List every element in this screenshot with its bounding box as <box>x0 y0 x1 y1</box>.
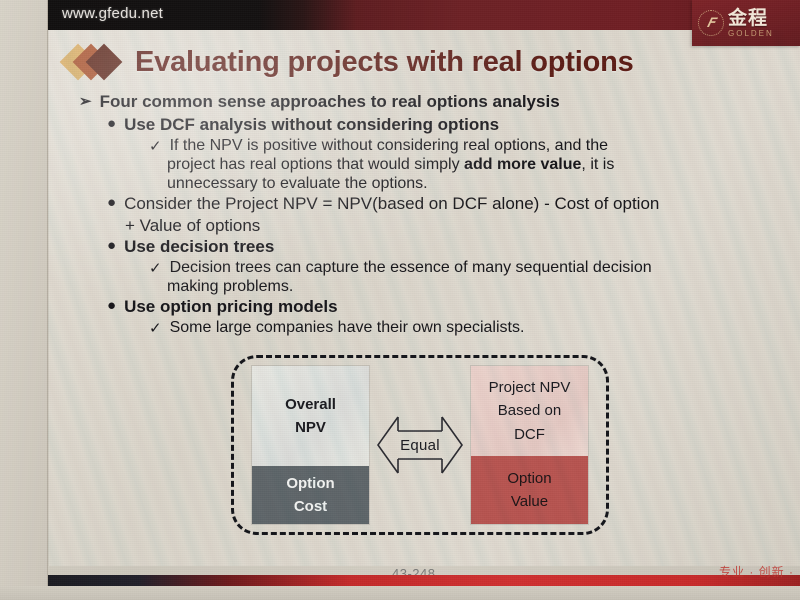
overall-npv-label-line2: NPV <box>295 416 326 439</box>
outline-item-text: Use DCF analysis without considering opt… <box>124 115 499 135</box>
option-cost-segment: Option Cost <box>252 466 369 524</box>
project-npv-label-line1: Project NPV <box>489 376 571 399</box>
overall-npv-segment: Overall NPV <box>252 366 369 466</box>
option-cost-label-line1: Option <box>286 472 334 495</box>
circular-seal-icon: 𝑭 <box>698 10 724 36</box>
footer-accent-bar <box>48 575 800 586</box>
dot-bullet-icon: ● <box>107 194 116 213</box>
outline-item: ➢Four common sense approaches to real op… <box>49 92 800 112</box>
slide-body-outline: ➢Four common sense approaches to real op… <box>49 92 800 338</box>
outline-item-text: Consider the Project NPV = NPV(based on … <box>124 194 659 214</box>
overall-npv-label-line1: Overall <box>285 393 336 416</box>
outline-item-text: + Value of options <box>125 216 260 236</box>
dot-bullet-icon: ● <box>107 237 116 256</box>
option-value-segment: Option Value <box>471 456 588 524</box>
outline-item-text: unnecessary to evaluate the options. <box>167 175 428 193</box>
option-cost-label-line2: Cost <box>294 495 327 518</box>
outline-item: unnecessary to evaluate the options. <box>49 175 800 193</box>
outline-item-text: Use decision trees <box>124 237 274 257</box>
project-npv-stack: Project NPV Based on DCF Option Value <box>471 366 588 524</box>
outline-item: ●Consider the Project NPV = NPV(based on… <box>49 194 800 214</box>
project-npv-dcf-segment: Project NPV Based on DCF <box>471 366 588 456</box>
equivalence-diagram: Overall NPV Option Cost <box>231 355 609 535</box>
brand-name-en: GOLDEN <box>728 30 774 38</box>
footer-slogan: 专业 · 创新 · <box>719 563 794 580</box>
outline-item: ✓If the NPV is positive without consider… <box>49 137 800 155</box>
presentation-slide: Evaluating projects with real options ➢F… <box>49 30 800 566</box>
site-url-text: www.gfedu.net <box>62 5 163 22</box>
outline-item-text: making problems. <box>167 278 293 296</box>
outline-item-text: Use option pricing models <box>124 297 337 317</box>
brand-name-cn: 金程 <box>728 9 774 28</box>
outline-item: ●Use DCF analysis without considering op… <box>49 115 800 135</box>
outline-item: project has real options that would simp… <box>49 156 800 174</box>
page-title: Evaluating projects with real options <box>135 46 634 79</box>
emphasis-text: add more value <box>464 156 581 173</box>
arrow-bullet-icon: ➢ <box>79 92 92 110</box>
outline-item: + Value of options <box>49 216 800 236</box>
equal-label: Equal <box>400 437 440 454</box>
check-bullet-icon: ✓ <box>149 259 162 277</box>
outline-item: making problems. <box>49 278 800 296</box>
dot-bullet-icon: ● <box>107 115 116 134</box>
outline-item-text: project has real options that would simp… <box>167 156 614 174</box>
overall-npv-stack: Overall NPV Option Cost <box>252 366 369 524</box>
equal-connector: Equal <box>374 405 466 485</box>
outline-item: ●Use decision trees <box>49 237 800 257</box>
option-value-label-line2: Value <box>511 490 548 513</box>
outline-item: ✓Some large companies have their own spe… <box>49 319 800 337</box>
brand-logo: 𝑭 金程 GOLDEN <box>692 0 800 46</box>
outline-item: ✓Decision trees can capture the essence … <box>49 259 800 277</box>
bottom-bezel-margin <box>0 586 800 600</box>
slide-title-row: Evaluating projects with real options <box>65 42 634 82</box>
project-npv-label-line2: Based on <box>498 399 561 422</box>
option-value-label-line1: Option <box>507 467 551 490</box>
left-bezel-margin <box>0 0 48 600</box>
outline-item-text: Decision trees can capture the essence o… <box>170 259 652 277</box>
check-bullet-icon: ✓ <box>149 137 162 155</box>
outline-item: ●Use option pricing models <box>49 297 800 317</box>
project-npv-label-line3: DCF <box>514 423 545 446</box>
three-diamonds-icon <box>65 42 125 82</box>
outline-item-text: Four common sense approaches to real opt… <box>100 92 560 112</box>
outline-item-text: Some large companies have their own spec… <box>170 319 525 337</box>
check-bullet-icon: ✓ <box>149 319 162 337</box>
outline-item-text: If the NPV is positive without consideri… <box>170 137 608 155</box>
dot-bullet-icon: ● <box>107 297 116 316</box>
browser-url-bar: www.gfedu.net <box>48 0 800 30</box>
